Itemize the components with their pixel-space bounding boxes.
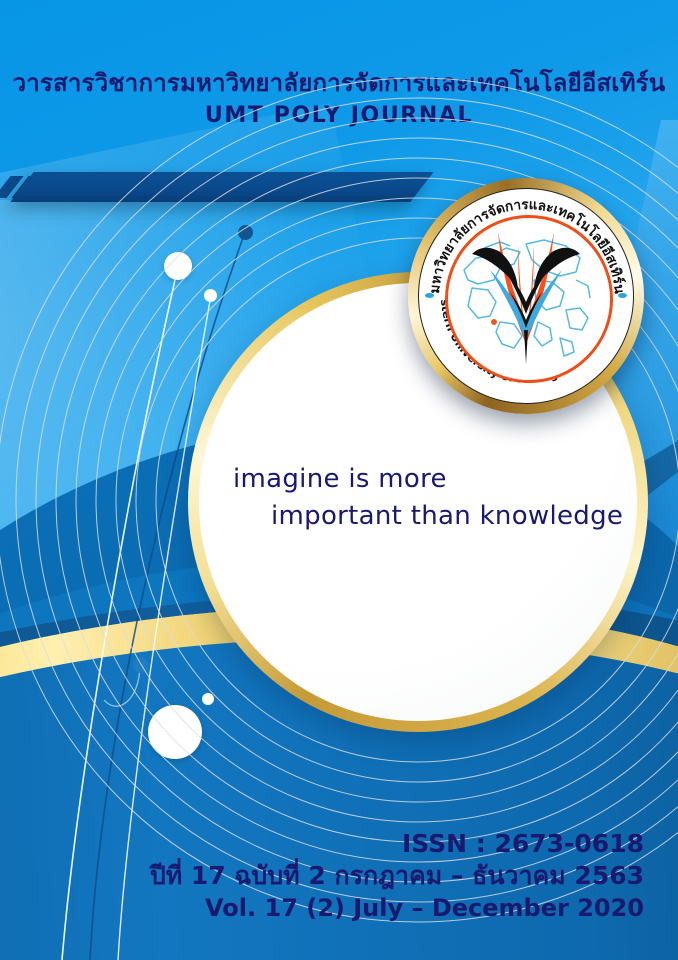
emblem-separator-dot-left — [425, 293, 434, 298]
emblem-separator-dot-right — [618, 293, 627, 298]
volume-line-english: Vol. 17 (2) July – December 2020 — [150, 893, 644, 924]
journal-cover: วารสารวิชาการมหาวิทยาลัยการจัดการและเทคโ… — [0, 0, 678, 960]
journal-title-english: UMT POLY JOURNAL — [0, 99, 678, 132]
cover-header: วารสารวิชาการมหาวิทยาลัยการจัดการและเทคโ… — [0, 68, 678, 132]
tagline-line-2: important than knowledge — [233, 498, 659, 535]
issn-line: ISSN : 2673-0618 — [150, 828, 644, 860]
diagonal-accent-band — [0, 168, 470, 214]
volume-line-thai: ปีที่ 17 ฉบับที่ 2 กรกฎาคม – ธันวาคม 256… — [150, 860, 644, 893]
accent-band-main — [10, 172, 433, 202]
cover-footer: ISSN : 2673-0618 ปีที่ 17 ฉบับที่ 2 กรกฎ… — [150, 828, 644, 924]
journal-title-thai: วารสารวิชาการมหาวิทยาลัยการจัดการและเทคโ… — [0, 68, 678, 99]
university-emblem: มหาวิทยาลัยการจัดการและเทคโนโลยีอีสเทิร์… — [408, 178, 644, 414]
emblem-core-disc — [445, 215, 613, 383]
emblem-inner-disc: มหาวิทยาลัยการจัดการและเทคโนโลยีอีสเทิร์… — [418, 188, 634, 404]
medallion-tagline: imagine is more important than knowledge — [199, 461, 659, 535]
tagline-line-1: imagine is more — [233, 464, 447, 494]
emblem-m-monogram-icon — [466, 226, 586, 366]
